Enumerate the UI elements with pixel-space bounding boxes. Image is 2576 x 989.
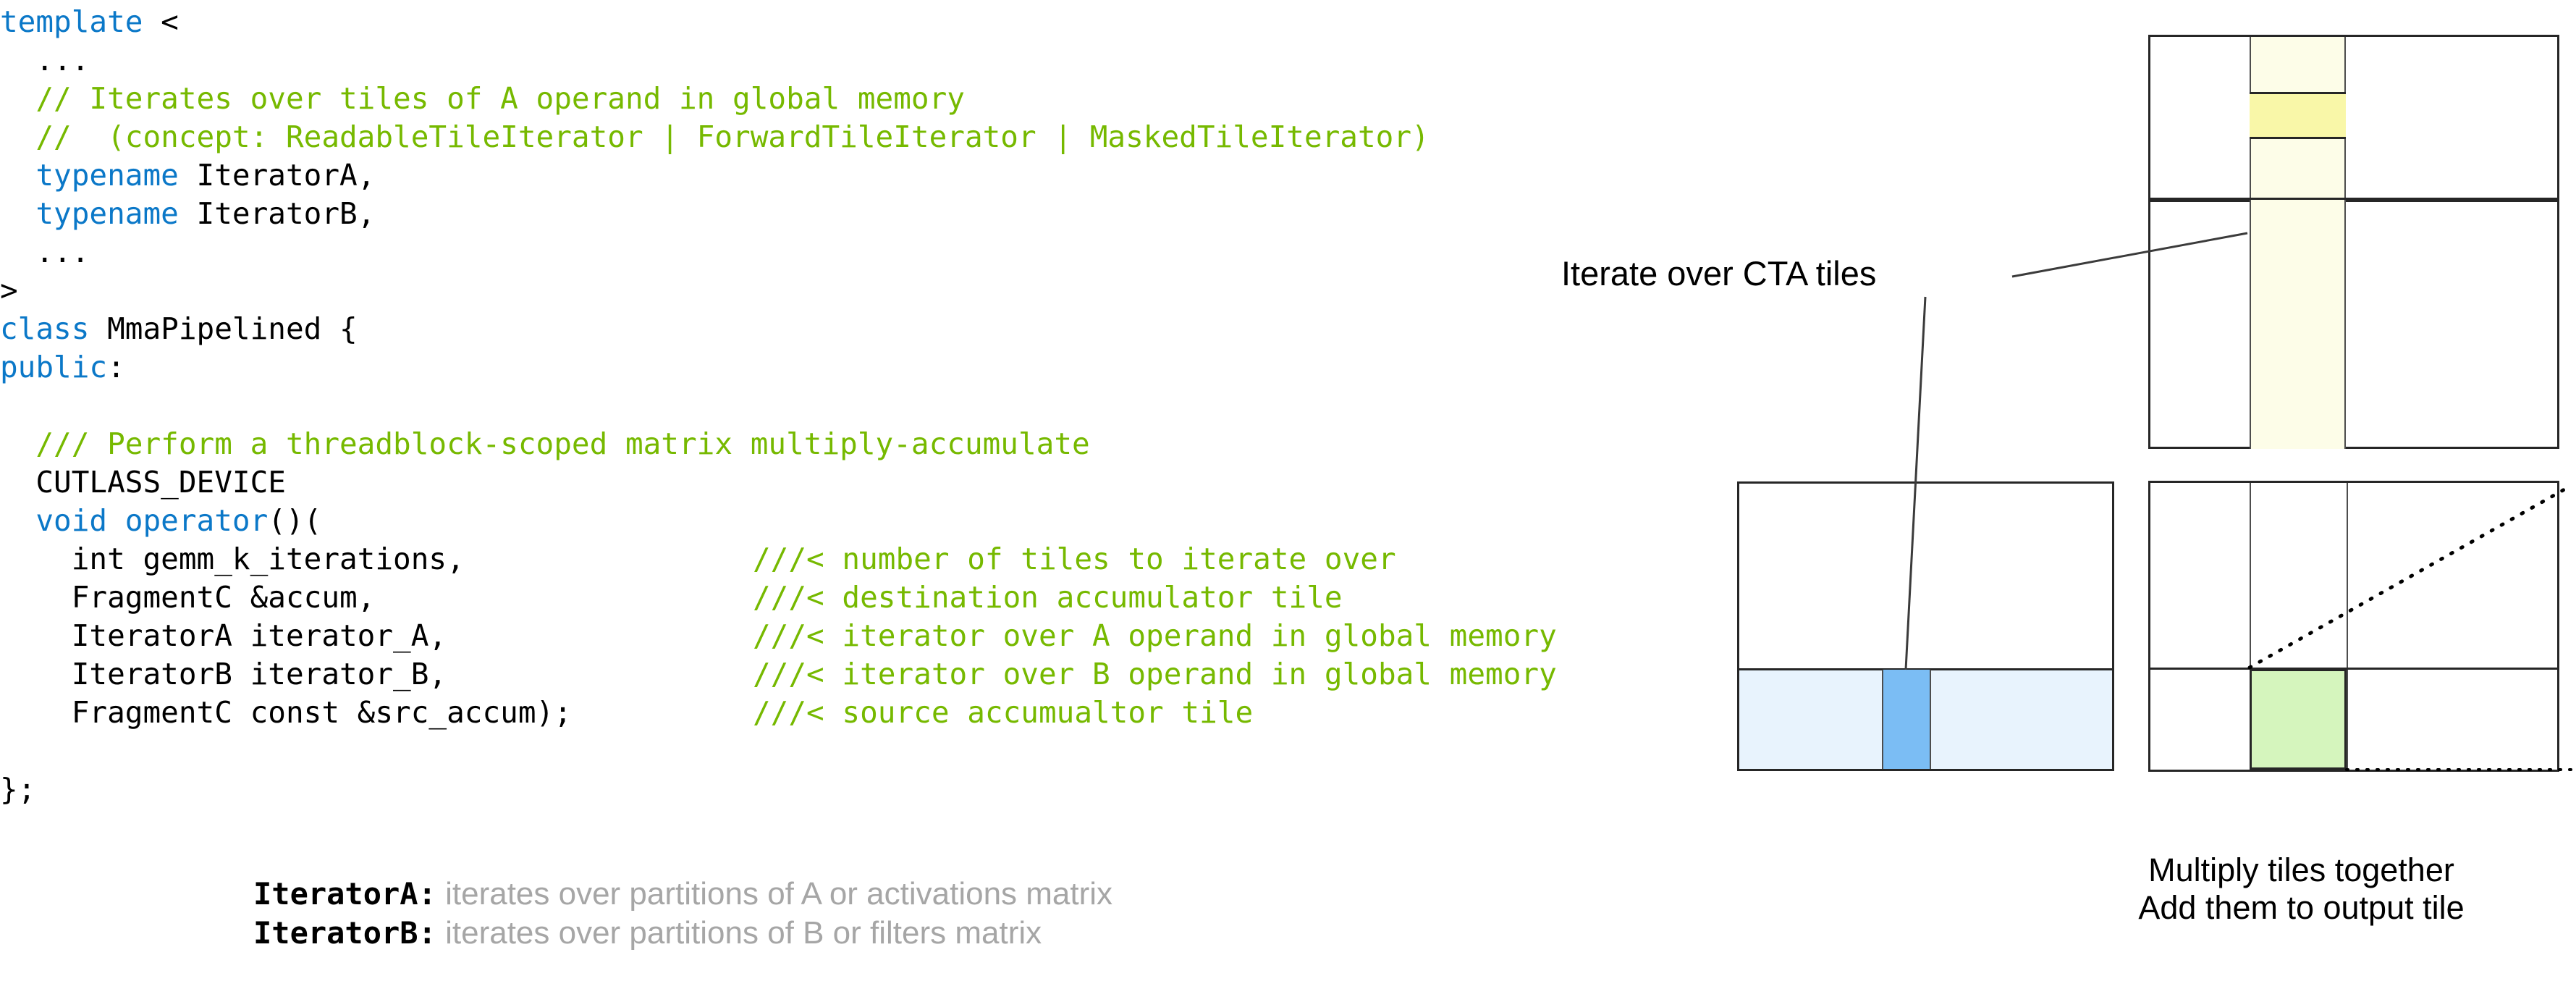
code-token-pln: MmaPipelined {: [89, 311, 357, 346]
iterator-legend-description: iterates over partitions of B or filters…: [436, 915, 1042, 951]
code-token-pln: IteratorB iterator_B,: [0, 657, 447, 691]
code-token-pln: IteratorA,: [179, 158, 376, 193]
code-token-pln: IteratorA iterator_A,: [0, 618, 447, 653]
code-token-pln: ()(: [268, 503, 321, 538]
code-line: ...: [0, 41, 89, 80]
cta-tile-top-edge: [2250, 92, 2346, 94]
code-line: ...: [0, 233, 89, 272]
code-token-kw: typename: [35, 196, 178, 231]
iterator-legend: IteratorA: iterates over partitions of A…: [253, 875, 1629, 953]
code-line: /// Perform a threadblock-scoped matrix …: [0, 425, 1090, 463]
caption-add-output-tile: Add them to output tile: [2027, 889, 2576, 927]
code-line: FragmentC const &src_accum);: [0, 694, 572, 732]
code-param-comment: ///< iterator over A operand in global m…: [753, 617, 1557, 655]
code-token-pln: >: [0, 273, 18, 308]
matrix-a-stripe-pale-lower: [2250, 200, 2346, 449]
iterator-legend-name: IteratorA:: [253, 876, 436, 912]
matrix-c-gridline-right: [2347, 483, 2348, 770]
matrix-a-box-lower: [2148, 200, 2559, 449]
tile-iteration-diagram: Iterate over CTA tiles Multiply tiles to…: [1520, 0, 2576, 989]
code-listing: template < ... // Iterates over tiles of…: [0, 0, 1665, 825]
code-param-comment: ///< number of tiles to iterate over: [753, 540, 1396, 578]
code-token-cmt: // Iterates over tiles of A operand in g…: [0, 81, 965, 116]
code-param-comment: ///< source accumualtor tile: [753, 694, 1253, 732]
code-line: IteratorB iterator_B,: [0, 655, 447, 694]
code-line: int gemm_k_iterations,: [0, 540, 465, 578]
code-token-pln: };: [0, 772, 35, 807]
code-token-pln: [0, 158, 35, 193]
code-token-pln: ...: [0, 235, 89, 269]
matrix-b-gridline-right: [1930, 670, 1931, 769]
matrix-a-box: [2148, 35, 2559, 200]
code-line: // (concept: ReadableTileIterator | Forw…: [0, 118, 1430, 156]
operand-b-tile-blue: [1882, 670, 1930, 769]
code-token-pln: [0, 196, 35, 231]
code-token-pln: FragmentC &accum,: [0, 580, 375, 615]
code-line: public:: [0, 348, 125, 387]
matrix-a-gridline-right-lower: [2344, 200, 2346, 449]
code-token-pln: FragmentC const &src_accum);: [0, 695, 572, 730]
code-token-pln: int gemm_k_iterations,: [0, 542, 465, 576]
matrix-c-box: [2148, 481, 2559, 772]
code-line: // Iterates over tiles of A operand in g…: [0, 80, 965, 118]
code-line: CUTLASS_DEVICE: [0, 463, 286, 502]
cta-tile-bottom-edge: [2250, 137, 2346, 139]
code-token-pln: ...: [0, 43, 89, 77]
iterator-legend-row: IteratorA: iterates over partitions of A…: [253, 875, 1629, 914]
code-line: class MmaPipelined {: [0, 310, 358, 348]
iterator-legend-description: iterates over partitions of A or activat…: [436, 876, 1112, 912]
code-line: };: [0, 770, 35, 809]
code-token-pln: CUTLASS_DEVICE: [0, 465, 286, 500]
matrix-c-gridline-horizontal: [2148, 668, 2559, 670]
iterator-legend-name: IteratorB:: [253, 915, 436, 951]
code-token-pln: :: [107, 350, 125, 384]
code-line: typename IteratorB,: [0, 195, 375, 233]
cta-tile-highlight-yellow: [2250, 93, 2346, 138]
callout-iterate-cta-tiles: Iterate over CTA tiles: [1561, 254, 1876, 293]
code-token-cmt: /// Perform a threadblock-scoped matrix …: [0, 426, 1090, 461]
iterator-legend-row: IteratorB: iterates over partitions of B…: [253, 914, 1629, 953]
output-tile-green: [2250, 669, 2347, 770]
code-line: template <: [0, 3, 179, 41]
code-token-pln: <: [143, 4, 178, 39]
code-token-cmt: // (concept: ReadableTileIterator | Forw…: [0, 119, 1430, 154]
code-token-kw: public: [0, 350, 107, 384]
matrix-b-gridline-left: [1882, 670, 1883, 769]
code-token-kw: void operator: [0, 503, 268, 538]
code-param-comment: ///< iterator over B operand in global m…: [753, 655, 1557, 694]
matrix-a-gridline-left-lower: [2250, 200, 2251, 449]
code-token-kw: template: [0, 4, 143, 39]
code-param-comment: ///< destination accumulator tile: [753, 578, 1343, 617]
code-line: IteratorA iterator_A,: [0, 617, 447, 655]
code-line: >: [0, 272, 18, 310]
code-line: FragmentC &accum,: [0, 578, 375, 617]
caption-multiply-tiles: Multiply tiles together: [2027, 851, 2576, 889]
code-token-kw: typename: [35, 158, 178, 193]
code-line: void operator()(: [0, 502, 321, 540]
code-token-pln: IteratorB,: [179, 196, 376, 231]
code-token-kw: class: [0, 311, 89, 346]
code-line: typename IteratorA,: [0, 156, 375, 195]
